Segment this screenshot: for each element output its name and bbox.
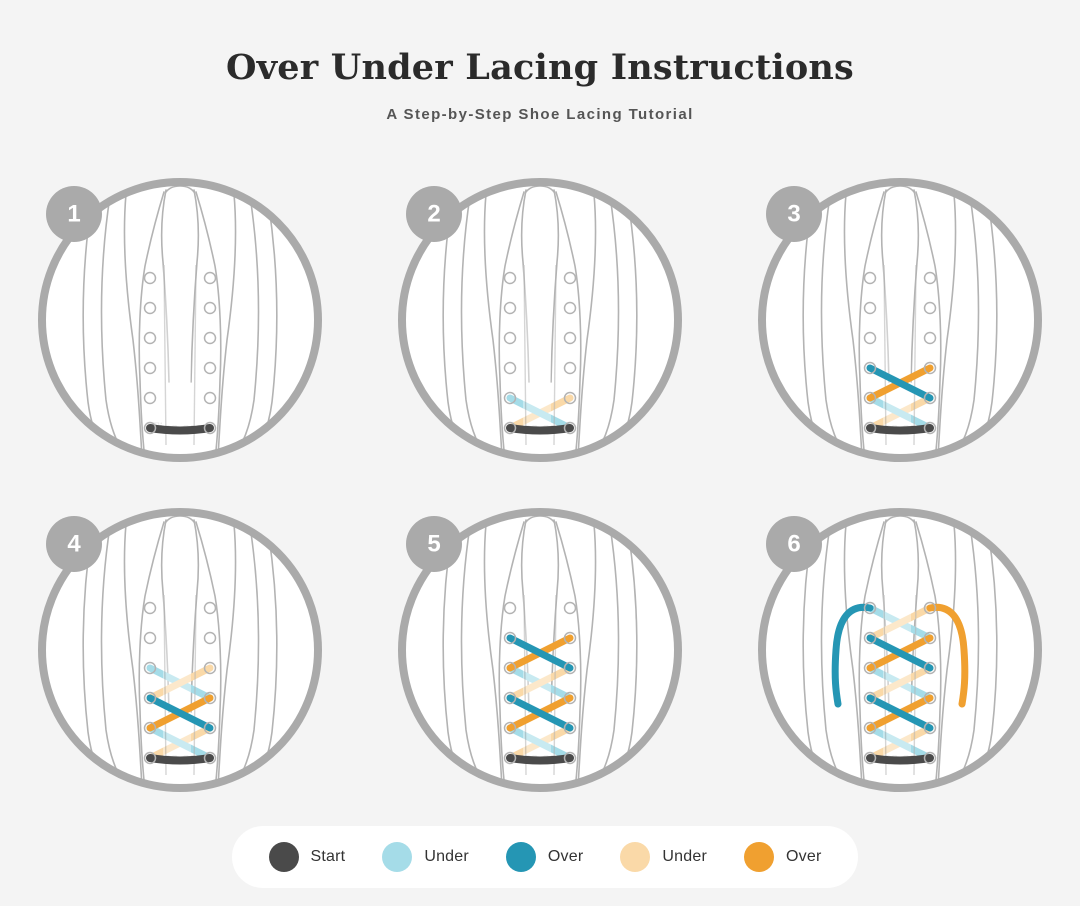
step-number: 6: [787, 531, 800, 558]
page-title: Over Under Lacing Instructions: [0, 48, 1080, 88]
page-header: Over Under Lacing Instructions A Step-by…: [0, 0, 1080, 123]
lacing-instructions-page: Over Under Lacing Instructions A Step-by…: [0, 0, 1080, 906]
legend-item: Under: [620, 842, 707, 872]
legend-label: Over: [786, 848, 821, 866]
steps-grid: Ties.com1Ties.com2Ties.com3Ties.com4Ties…: [0, 170, 1080, 830]
legend-dot-start: [269, 842, 299, 872]
step-card-4: Ties.com4: [30, 500, 330, 800]
step-number: 4: [67, 531, 81, 558]
page-subtitle: A Step-by-Step Shoe Lacing Tutorial: [0, 106, 1080, 123]
step-number: 5: [427, 531, 440, 558]
step-number: 1: [67, 201, 80, 228]
start-bar: [870, 428, 930, 431]
step-card-6: Ties.com6: [750, 500, 1050, 800]
legend-dot-under-peach: [620, 842, 650, 872]
legend-dot-over-orange: [744, 842, 774, 872]
legend-dot-over-teal: [506, 842, 536, 872]
step-diagram-1: Ties.com1: [30, 170, 330, 470]
legend-label: Start: [311, 848, 346, 866]
legend-panel: StartUnderOverUnderOver: [232, 826, 858, 888]
step-diagram-3: Ties.com3: [750, 170, 1050, 470]
step-card-2: Ties.com2: [390, 170, 690, 470]
legend-label: Under: [662, 848, 707, 866]
legend-item: Over: [506, 842, 583, 872]
legend-item: Start: [269, 842, 346, 872]
step-number: 3: [787, 201, 800, 228]
step-diagram-6: Ties.com6: [750, 500, 1050, 800]
legend-dot-under-blue: [382, 842, 412, 872]
step-card-1: Ties.com1: [30, 170, 330, 470]
step-diagram-4: Ties.com4: [30, 500, 330, 800]
step-number: 2: [427, 201, 440, 228]
step-card-3: Ties.com3: [750, 170, 1050, 470]
start-bar: [870, 758, 930, 761]
start-bar: [510, 758, 570, 761]
legend-item: Under: [382, 842, 469, 872]
start-bar: [150, 428, 210, 431]
start-bar: [150, 758, 210, 761]
start-bar: [510, 428, 570, 431]
legend-item: Over: [744, 842, 821, 872]
step-diagram-5: Ties.com5: [390, 500, 690, 800]
legend-label: Under: [424, 848, 469, 866]
legend-label: Over: [548, 848, 583, 866]
step-card-5: Ties.com5: [390, 500, 690, 800]
step-diagram-2: Ties.com2: [390, 170, 690, 470]
